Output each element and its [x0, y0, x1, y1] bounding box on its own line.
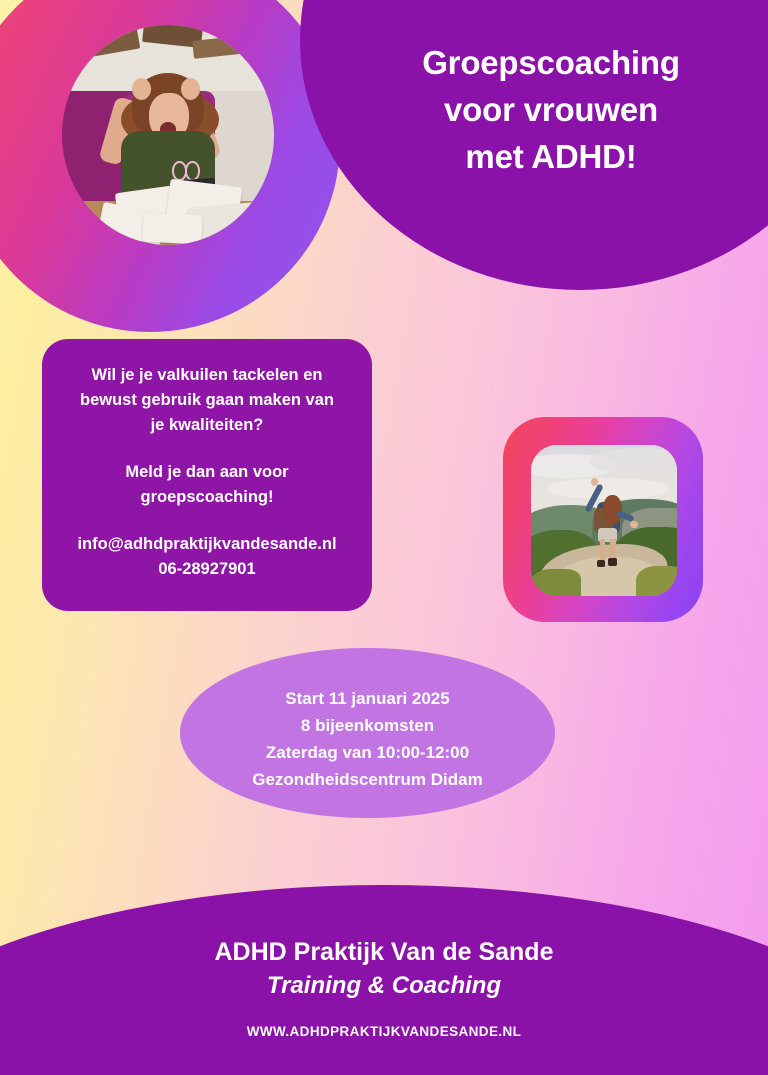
schedule-details: Start 11 januari 2025 8 bijeenkomsten Za…: [180, 686, 555, 793]
info-spacer: [60, 510, 354, 532]
contact-phone[interactable]: 06-28927901: [60, 557, 354, 582]
info-question: Wil je je valkuilen tackelen en bewust g…: [60, 363, 354, 438]
info-cta-line-2: groepscoaching!: [60, 485, 354, 510]
photo-desk-ring: [185, 161, 200, 180]
schedule-line-location: Gezondheidscentrum Didam: [180, 767, 555, 794]
info-question-line-3: je kwaliteiten?: [60, 413, 354, 438]
photo-paper: [142, 213, 203, 245]
info-box: Wil je je valkuilen tackelen en bewust g…: [42, 339, 372, 611]
practice-tagline: Training & Coaching: [0, 970, 768, 1002]
contact-email[interactable]: info@adhdpraktijkvandesande.nl: [60, 532, 354, 557]
photo-woman-stressed-scene: [62, 25, 274, 245]
schedule-line-start-date: Start 11 januari 2025: [180, 686, 555, 713]
poster-title: Groepscoaching voor vrouwen met ADHD!: [356, 40, 746, 181]
photo-frame-gradient: [503, 417, 703, 622]
photo-woman-stressed: [62, 25, 274, 245]
info-contact: info@adhdpraktijkvandesande.nl 06-289279…: [60, 532, 354, 582]
info-cta: Meld je dan aan voor groepscoaching!: [60, 460, 354, 510]
photo-woman-mountain: [531, 445, 677, 596]
photo-hiker-hand-out: [630, 521, 637, 529]
schedule-line-sessions: 8 bijeenkomsten: [180, 713, 555, 740]
photo-person-hand-left: [132, 78, 151, 100]
photo-hiker-hand-raised: [591, 478, 598, 486]
website-url[interactable]: WWW.ADHDPRAKTIJKVANDESANDE.NL: [0, 1024, 768, 1039]
footer: ADHD Praktijk Van de Sande Training & Co…: [0, 936, 768, 1039]
photo-hiker-leg: [610, 539, 616, 560]
photo-grass: [531, 569, 581, 596]
photo-hiker-boot: [597, 560, 606, 568]
practice-name: ADHD Praktijk Van de Sande: [0, 936, 768, 969]
info-cta-line-1: Meld je dan aan voor: [60, 460, 354, 485]
info-question-line-2: bewust gebruik gaan maken van: [60, 388, 354, 413]
photo-hiker-leg: [600, 539, 606, 562]
poster-canvas: Groepscoaching voor vrouwen met ADHD! Wi…: [0, 0, 768, 1075]
poster-title-line-3: met ADHD!: [356, 134, 746, 181]
photo-person-hand-right: [181, 78, 200, 100]
photo-hiker-boot: [608, 558, 617, 566]
schedule-line-day-time: Zaterdag van 10:00-12:00: [180, 740, 555, 767]
photo-grass: [636, 566, 677, 596]
poster-title-line-1: Groepscoaching: [356, 40, 746, 87]
poster-title-line-2: voor vrouwen: [356, 87, 746, 134]
info-question-line-1: Wil je je valkuilen tackelen en: [60, 363, 354, 388]
info-spacer: [60, 438, 354, 460]
